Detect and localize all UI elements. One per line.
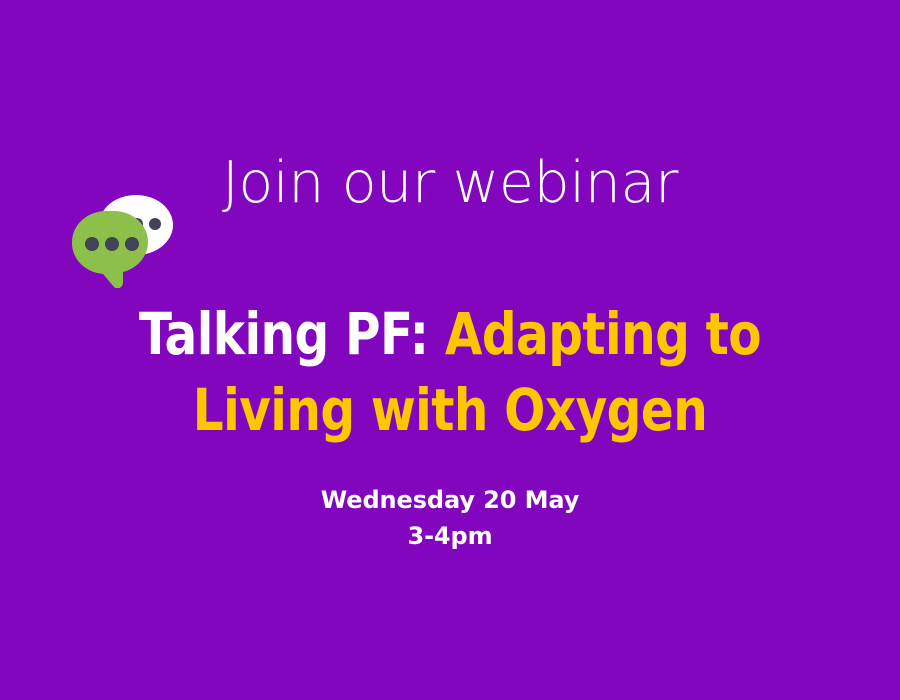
speech-bubble-front-icon (72, 211, 148, 288)
headline-prefix: Talking PF: (139, 300, 445, 368)
event-time: 3-4pm (0, 518, 900, 554)
event-datetime: Wednesday 20 May 3-4pm (0, 482, 900, 554)
webinar-promo-poster: Join our webinar Talking PF: Adapting to… (0, 0, 900, 700)
eyebrow-text: Join our webinar (0, 146, 900, 220)
event-date: Wednesday 20 May (0, 482, 900, 518)
page-title: Talking PF: Adapting to Living with Oxyg… (69, 296, 832, 448)
